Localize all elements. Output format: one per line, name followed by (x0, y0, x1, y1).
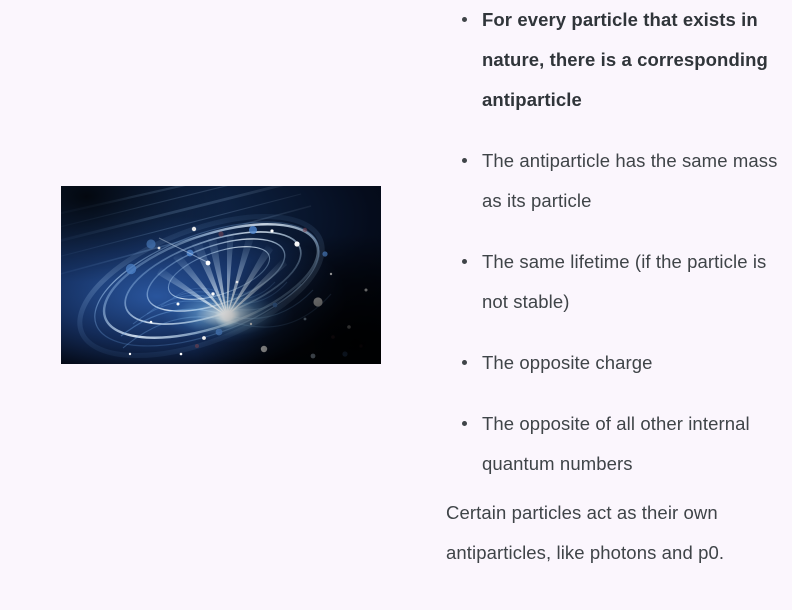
ripple-waves (61, 186, 381, 364)
illustration-column (0, 0, 440, 610)
bullet-dot-icon (462, 259, 467, 264)
list-item-text: For every particle that exists in nature… (482, 9, 768, 110)
list-item: The same lifetime (if the particle is no… (440, 242, 792, 322)
list-item: For every particle that exists in nature… (440, 0, 792, 120)
diagonal-streaks (61, 186, 381, 364)
list-item: The antiparticle has the same mass as it… (440, 141, 792, 221)
bullet-dot-icon (462, 360, 467, 365)
slide-root: For every particle that exists in nature… (0, 0, 792, 610)
list-item: The opposite charge (440, 343, 792, 383)
cosmic-particle-burst-illustration (61, 186, 381, 364)
vignette-shadow (61, 186, 381, 364)
vortex-arcs (61, 186, 381, 364)
bullet-dot-icon (462, 158, 467, 163)
star-field (61, 186, 381, 364)
list-item-text: The opposite of all other internal quant… (482, 413, 750, 474)
bullet-dot-icon (462, 421, 467, 426)
light-rays (61, 186, 381, 364)
list-item: The opposite of all other internal quant… (440, 404, 792, 484)
list-item-text: The opposite charge (482, 352, 653, 373)
blue-nebula-band (61, 186, 381, 364)
core-hotspot (61, 186, 381, 364)
antiparticle-properties-list: For every particle that exists in nature… (440, 0, 792, 505)
bullet-dot-icon (462, 17, 467, 22)
content-column: For every particle that exists in nature… (440, 0, 792, 610)
closing-paragraph: Certain particles act as their own antip… (446, 493, 746, 573)
list-item-text: The antiparticle has the same mass as it… (482, 150, 777, 211)
space-background-gradient (61, 186, 381, 364)
core-glow (61, 186, 381, 364)
list-item-text: The same lifetime (if the particle is no… (482, 251, 766, 312)
